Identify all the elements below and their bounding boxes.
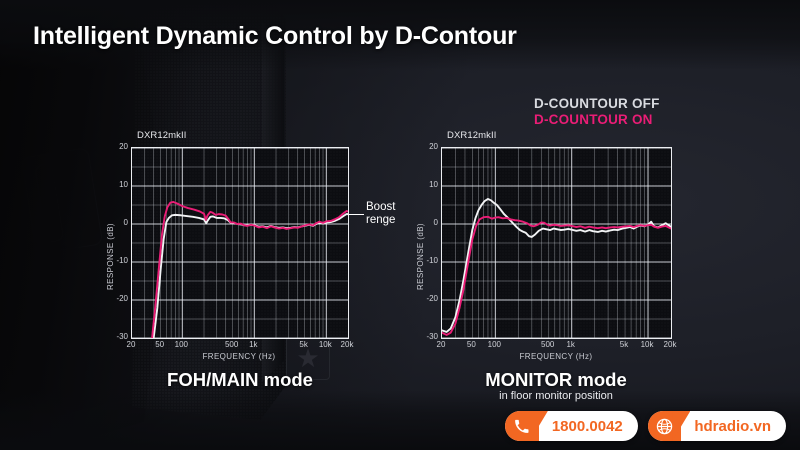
boost-range-annotation: Boost renge bbox=[366, 201, 395, 226]
plot-area-left bbox=[131, 147, 349, 339]
contact-badges: 1800.0042 hdradio.vn bbox=[505, 411, 786, 441]
y-tick-label: 10 bbox=[111, 180, 128, 189]
y-tick-label: 20 bbox=[421, 142, 438, 151]
x-tick-label: 20 bbox=[428, 340, 454, 349]
phone-icon bbox=[505, 411, 539, 441]
y-tick-label: 0 bbox=[421, 218, 438, 227]
boost-range-line2: renge bbox=[366, 214, 395, 227]
legend: D-COUNTOUR OFF D-COUNTOUR ON bbox=[534, 96, 660, 128]
chart-monitor: DXR12mkII RESPONSE (dB) FREQUENCY (Hz) 2… bbox=[441, 147, 670, 337]
x-tick-label: 20 bbox=[118, 340, 144, 349]
globe-icon bbox=[648, 411, 682, 441]
x-tick-label: 20k bbox=[657, 340, 683, 349]
chart-svg bbox=[132, 148, 348, 338]
x-tick-label: 100 bbox=[168, 340, 194, 349]
slide-canvas: ★ Intelligent Dynamic Control by D-Conto… bbox=[0, 0, 800, 450]
caption-foh-main: FOH/MAIN mode bbox=[130, 369, 350, 391]
x-axis-label-left: FREQUENCY (Hz) bbox=[179, 352, 299, 361]
boost-range-line1: Boost bbox=[366, 201, 395, 214]
legend-item-dcontour-off: D-COUNTOUR OFF bbox=[534, 96, 660, 112]
x-tick-label: 1k bbox=[240, 340, 266, 349]
caption-monitor-sub: in floor monitor position bbox=[440, 390, 672, 402]
y-tick-label: 20 bbox=[111, 142, 128, 151]
chart-model-label-left: DXR12mkII bbox=[137, 130, 186, 141]
y-tick-label: -10 bbox=[111, 256, 128, 265]
y-tick-label: -20 bbox=[421, 294, 438, 303]
boost-range-leader-line bbox=[348, 214, 364, 215]
website-badge[interactable]: hdradio.vn bbox=[648, 411, 786, 441]
plot-area-right bbox=[441, 147, 672, 339]
y-tick-label: -20 bbox=[111, 294, 128, 303]
caption-monitor: MONITOR mode bbox=[440, 369, 672, 391]
chart-foh-main: DXR12mkII RESPONSE (dB) FREQUENCY (Hz) 2… bbox=[131, 147, 347, 337]
website-url: hdradio.vn bbox=[681, 418, 786, 435]
chart-svg bbox=[442, 148, 671, 338]
page-title: Intelligent Dynamic Control by D-Contour bbox=[33, 22, 517, 51]
y-tick-label: 10 bbox=[421, 180, 438, 189]
phone-badge[interactable]: 1800.0042 bbox=[505, 411, 638, 441]
phone-number: 1800.0042 bbox=[539, 418, 638, 435]
legend-item-dcontour-on: D-COUNTOUR ON bbox=[534, 112, 660, 128]
x-tick-label: 1k bbox=[558, 340, 584, 349]
chart-model-label-right: DXR12mkII bbox=[447, 130, 496, 141]
y-tick-label: -10 bbox=[421, 256, 438, 265]
x-tick-label: 100 bbox=[481, 340, 507, 349]
x-axis-label-right: FREQUENCY (Hz) bbox=[496, 352, 616, 361]
x-tick-label: 20k bbox=[334, 340, 360, 349]
y-tick-label: 0 bbox=[111, 218, 128, 227]
